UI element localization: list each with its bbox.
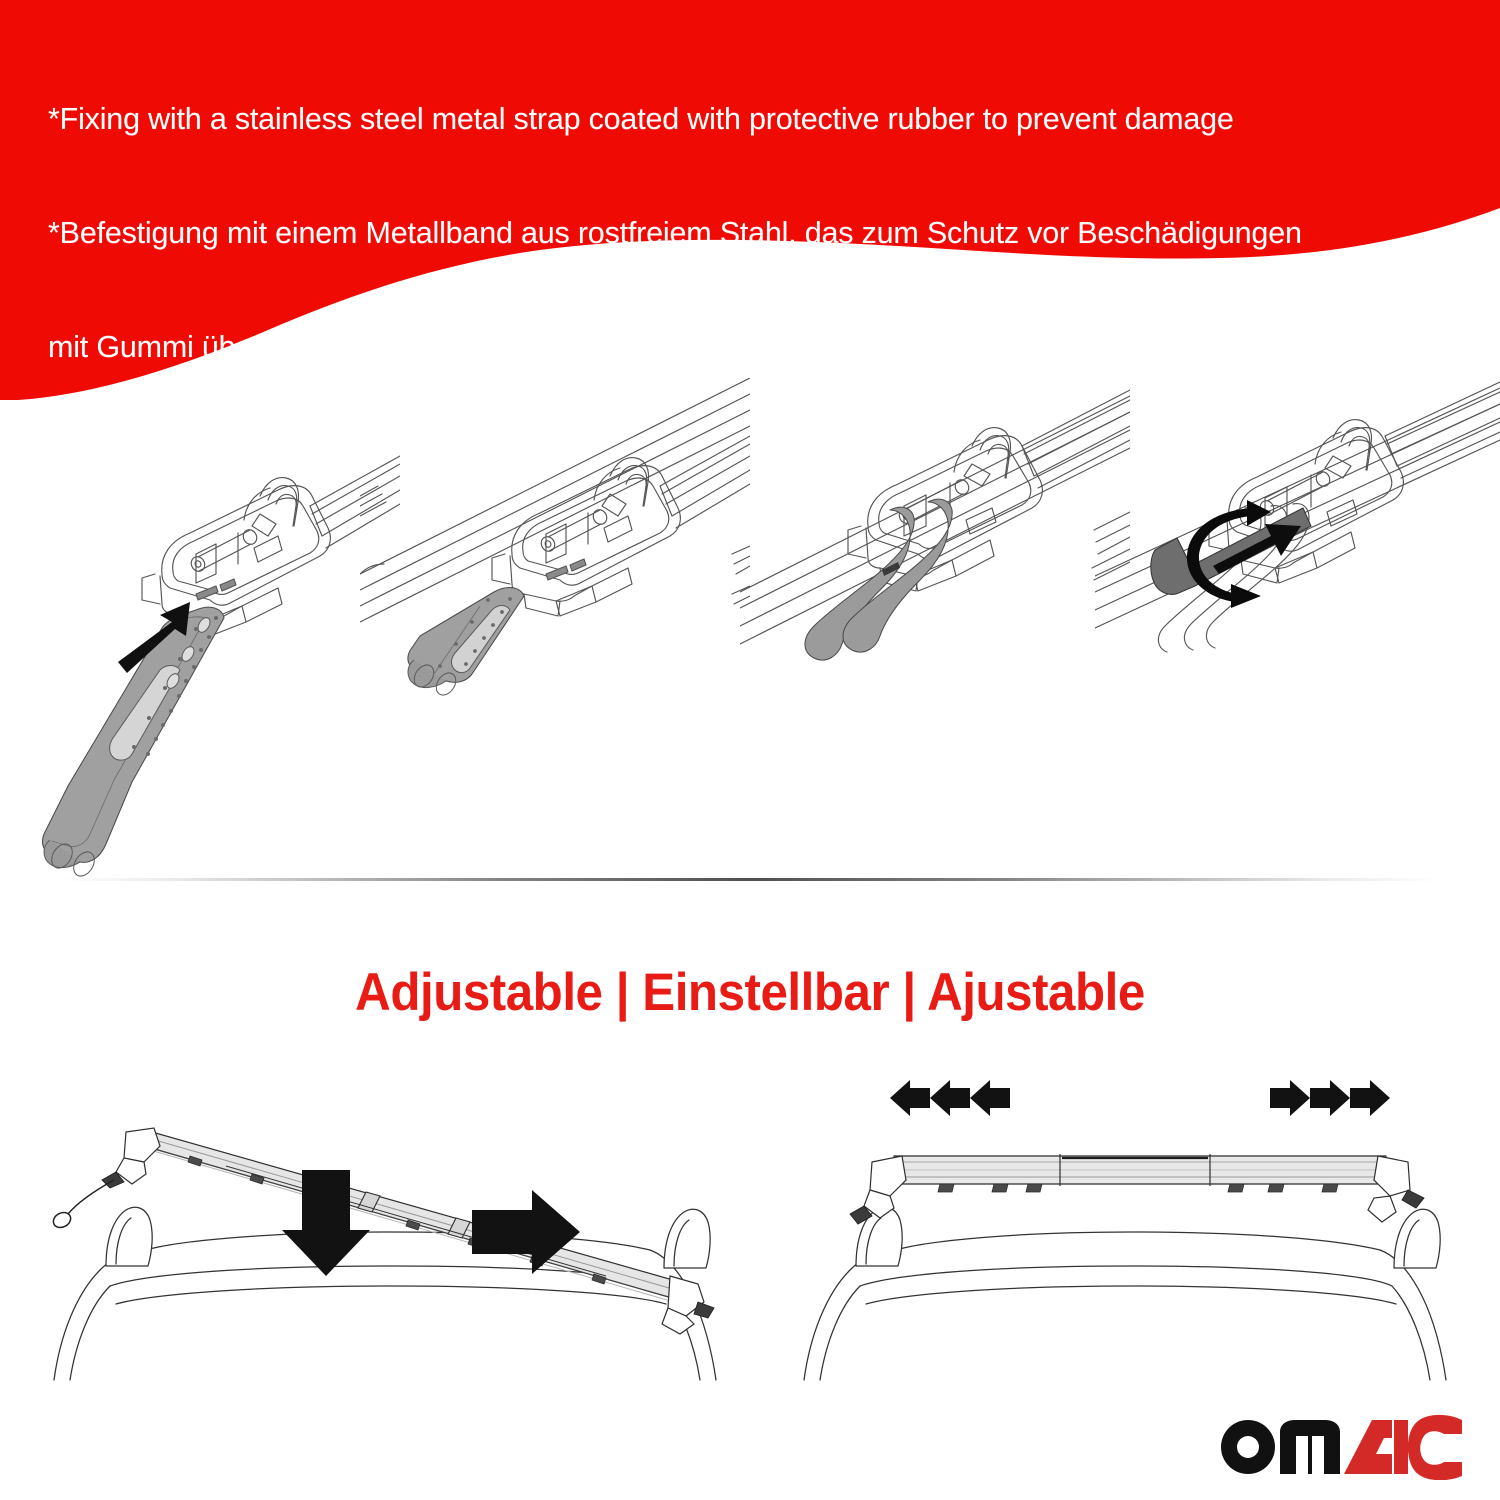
installation-steps-strip	[0, 378, 1500, 878]
step-4-illustration	[1095, 378, 1500, 878]
figure-width-adjust	[790, 1080, 1470, 1400]
header-banner: *Fixing with a stainless steel metal str…	[0, 0, 1500, 400]
banner-line-de-1: *Befestigung mit einem Metallband aus ro…	[48, 214, 1468, 252]
figure-placement-illustration	[40, 1080, 740, 1400]
step-3-diagram	[740, 378, 1130, 878]
step-3-illustration	[740, 378, 1130, 878]
step-4-diagram	[1095, 378, 1500, 878]
arrows-extend-left	[890, 1080, 1010, 1116]
step-1-diagram	[10, 378, 400, 878]
arrows-extend-right	[1270, 1080, 1390, 1116]
step-2-illustration	[360, 378, 750, 878]
banner-line-en: *Fixing with a stainless steel metal str…	[48, 100, 1468, 138]
adjustable-heading: Adjustable | Einstellbar | Ajustable	[53, 962, 1448, 1023]
step-2-diagram	[360, 378, 750, 878]
figure-width-adjust-illustration	[790, 1080, 1470, 1400]
banner-text-block: *Fixing with a stainless steel metal str…	[48, 24, 1468, 400]
product-infographic: *Fixing with a stainless steel metal str…	[0, 0, 1500, 1500]
adjustable-figures	[0, 1080, 1500, 1400]
crossbar-mounted	[850, 1154, 1424, 1224]
section-divider	[60, 878, 1440, 881]
figure-placement	[40, 1080, 740, 1400]
banner-line-de-2: mit Gummi überzogen ist	[48, 328, 1468, 366]
omac-logo-mark	[1212, 1402, 1462, 1480]
step-1-illustration	[10, 378, 400, 878]
omac-logo	[1212, 1402, 1462, 1480]
